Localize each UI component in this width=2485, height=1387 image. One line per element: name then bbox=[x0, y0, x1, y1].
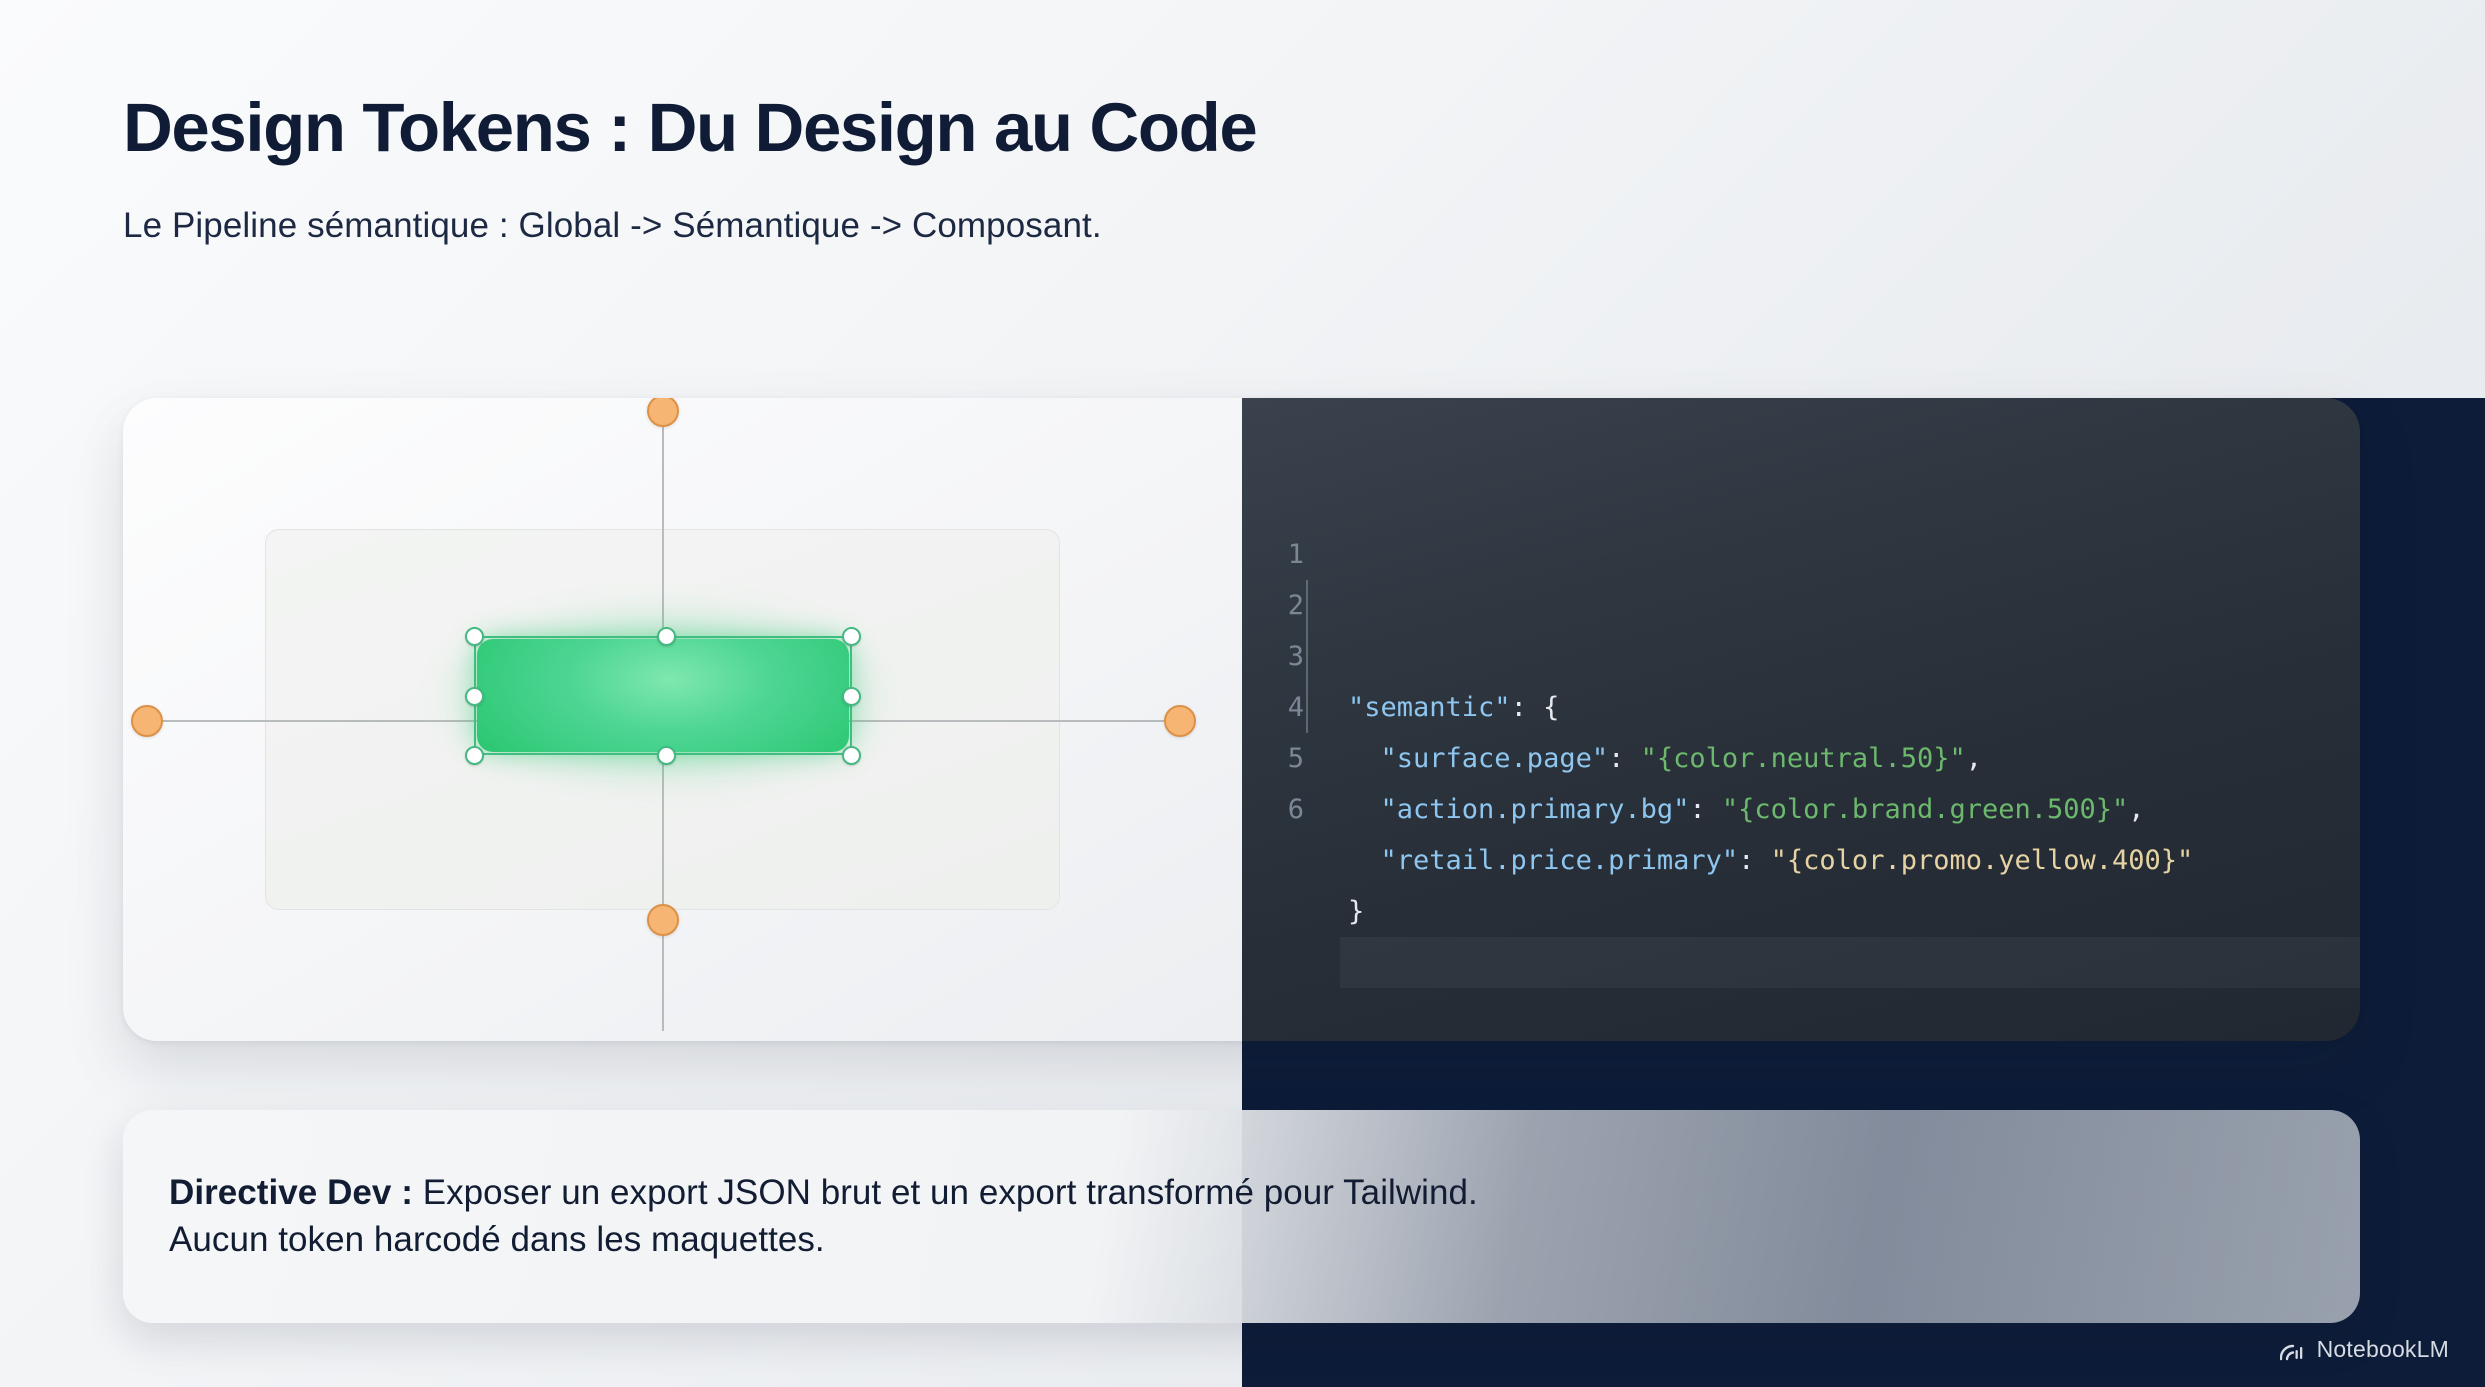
code-editor-body[interactable]: "semantic": { "surface.page": "{color.ne… bbox=[1304, 529, 2360, 1041]
code-token: "semantic" bbox=[1348, 692, 1511, 723]
anchor-handle-right[interactable] bbox=[1164, 705, 1196, 737]
line-number: 5 bbox=[1242, 733, 1304, 784]
code-token: } bbox=[1348, 896, 1364, 927]
line-number: 4 bbox=[1242, 682, 1304, 733]
page-title: Design Tokens : Du Design au Code bbox=[123, 92, 2223, 164]
resize-handle-sw[interactable] bbox=[465, 746, 484, 765]
code-token: "retail.price.primary" bbox=[1348, 845, 1738, 876]
code-line[interactable] bbox=[1348, 937, 2360, 988]
anchor-handle-left[interactable] bbox=[131, 705, 163, 737]
resize-handle-e[interactable] bbox=[842, 687, 861, 706]
anchor-handle-top[interactable] bbox=[647, 398, 679, 427]
resize-handle-w[interactable] bbox=[465, 687, 484, 706]
selected-shape-group[interactable] bbox=[477, 639, 849, 752]
directive-label: Directive Dev : bbox=[169, 1173, 413, 1212]
directive-line-1: Exposer un export JSON brut et un export… bbox=[413, 1173, 1478, 1212]
line-number: 2 bbox=[1242, 580, 1304, 631]
canvas-frame[interactable] bbox=[265, 529, 1060, 910]
design-to-code-card: 123456 "semantic": { "surface.page": "{c… bbox=[123, 398, 2360, 1041]
watermark-label: NotebookLM bbox=[2317, 1336, 2449, 1363]
line-number: 6 bbox=[1242, 784, 1304, 835]
code-line[interactable]: "action.primary.bg": "{color.brand.green… bbox=[1348, 784, 2360, 835]
code-token: : bbox=[1738, 845, 1771, 876]
code-line[interactable]: "retail.price.primary": "{color.promo.ye… bbox=[1348, 835, 2360, 886]
resize-handle-n[interactable] bbox=[657, 627, 676, 646]
notebooklm-arc-icon bbox=[2280, 1339, 2306, 1361]
anchor-handle-bottom[interactable] bbox=[647, 904, 679, 936]
code-token: "{color.brand.green.500}" bbox=[1722, 794, 2128, 825]
directive-card: Directive Dev : Exposer un export JSON b… bbox=[123, 1110, 2360, 1323]
directive-line-2: Aucun token harcodé dans les maquettes. bbox=[169, 1220, 825, 1259]
code-token: "surface.page" bbox=[1348, 743, 1608, 774]
line-number: 3 bbox=[1242, 631, 1304, 682]
code-token: : { bbox=[1511, 692, 1560, 723]
design-pane[interactable] bbox=[123, 398, 1242, 1041]
resize-handle-nw[interactable] bbox=[465, 627, 484, 646]
code-token: "{color.promo.yellow.400}" bbox=[1771, 845, 2194, 876]
code-pane[interactable]: 123456 "semantic": { "surface.page": "{c… bbox=[1242, 398, 2360, 1041]
code-line[interactable]: "surface.page": "{color.neutral.50}", bbox=[1348, 733, 2360, 784]
indent-guide-line bbox=[1306, 580, 1308, 733]
line-number-gutter: 123456 bbox=[1242, 529, 1304, 1041]
directive-text: Directive Dev : Exposer un export JSON b… bbox=[169, 1170, 1478, 1264]
code-line[interactable]: } bbox=[1348, 886, 2360, 937]
code-token: "{color.neutral.50}" bbox=[1641, 743, 1966, 774]
watermark: NotebookLM bbox=[2280, 1336, 2449, 1363]
code-token: , bbox=[1966, 743, 1982, 774]
selection-bounding-box bbox=[474, 636, 852, 755]
resize-handle-ne[interactable] bbox=[842, 627, 861, 646]
resize-handle-s[interactable] bbox=[657, 746, 676, 765]
page-subtitle: Le Pipeline sémantique : Global -> Séman… bbox=[123, 206, 2223, 246]
header: Design Tokens : Du Design au Code Le Pip… bbox=[123, 92, 2223, 246]
code-token: : bbox=[1689, 794, 1722, 825]
code-token: "action.primary.bg" bbox=[1348, 794, 1689, 825]
code-token: , bbox=[2128, 794, 2144, 825]
code-line[interactable]: "semantic": { bbox=[1348, 682, 2360, 733]
line-number: 1 bbox=[1242, 529, 1304, 580]
code-token: : bbox=[1608, 743, 1641, 774]
resize-handle-se[interactable] bbox=[842, 746, 861, 765]
slide-background: Design Tokens : Du Design au Code Le Pip… bbox=[0, 0, 2485, 1387]
